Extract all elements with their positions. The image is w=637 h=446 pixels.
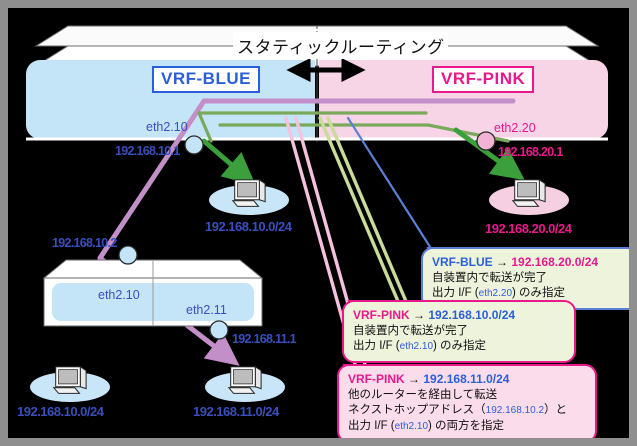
port-circle-icon [185, 136, 203, 154]
net-label-blue-bottom: 192.168.10.0/24 [17, 404, 103, 419]
callout-arrow-icon: → [413, 308, 425, 322]
router-device [44, 260, 262, 326]
callout-line2: 自装置内で転送が完了 [432, 271, 628, 287]
lan-blue-bottom [30, 367, 110, 402]
ip-label-192-168-20-1: 192.168.20.1 [498, 145, 563, 159]
page-title: スタティックルーティング [233, 32, 448, 59]
callout-line2: 自装置内で転送が完了 [353, 324, 565, 340]
iface-label-eth2-20: eth2.20 [494, 121, 536, 135]
callout-iface: eth2.10 [395, 421, 428, 432]
vrf-pink-label: VRF-PINK [432, 66, 534, 93]
callout-destination: 192.168.20.0/24 [511, 255, 598, 269]
callout-vrf-pink-direct: VRF-PINK → 192.168.10.0/24 自装置内で転送が完了 出力… [342, 300, 576, 363]
callout-line2: 他のルーターを経由して転送 [348, 388, 586, 404]
iface-label-eth2-10-router: eth2.10 [98, 288, 140, 302]
callout-vrf-name: VRF-PINK [353, 308, 410, 322]
ip-label-192-168-10-1: 192.168.10.1 [115, 144, 180, 158]
vrf-blue-label: VRF-BLUE [152, 66, 260, 93]
callout-line3: 出力 I/F (eth2.10) のみ指定 [353, 339, 565, 355]
ip-label-192-168-10-2: 192.168.10.2 [52, 236, 117, 250]
ip-label-192-168-11-1: 192.168.11.1 [232, 332, 296, 346]
callout-arrow-icon: → [496, 255, 508, 269]
iface-label-eth2-11: eth2.11 [186, 303, 227, 317]
port-circle-icon [210, 321, 228, 339]
callout-destination: 192.168.10.0/24 [428, 308, 515, 322]
callout-vrf-name: VRF-BLUE [432, 255, 493, 269]
lan-pink-bottom [205, 367, 285, 402]
callout-iface: eth2.10 [400, 341, 433, 352]
callout-vrf-name: VRF-PINK [348, 372, 405, 386]
callout-line4: 出力 I/F (eth2.10) の両方を指定 [348, 419, 586, 435]
callout-iface: eth2.20 [479, 288, 512, 299]
callout-arrow-icon: → [408, 372, 420, 386]
net-label-pink-bottom: 192.168.11.0/24 [193, 404, 279, 419]
diagram-canvas: スタティックルーティング VRF-BLUE VRF-PINK eth2.10 1… [8, 8, 629, 438]
callout-line3: ネクストホップアドレス（192.168.10.2）と [348, 403, 586, 419]
net-label-blue-top: 192.168.10.0/24 [205, 219, 291, 234]
iface-label-eth2-10-top: eth2.10 [146, 120, 188, 134]
green-arrow-to-blue-lan [204, 141, 240, 172]
port-circle-icon [477, 132, 495, 150]
net-label-pink-top: 192.168.20.0/24 [485, 221, 571, 236]
lan-pink-top [489, 180, 569, 215]
callout-nexthop: 192.168.10.2 [486, 405, 544, 416]
callout-vrf-pink-nexthop: VRF-PINK → 192.168.11.0/24 他のルーターを経由して転送… [337, 364, 597, 438]
lan-blue-top [209, 180, 289, 215]
port-circle-icon [119, 246, 137, 264]
callout-destination: 192.168.11.0/24 [423, 372, 509, 386]
